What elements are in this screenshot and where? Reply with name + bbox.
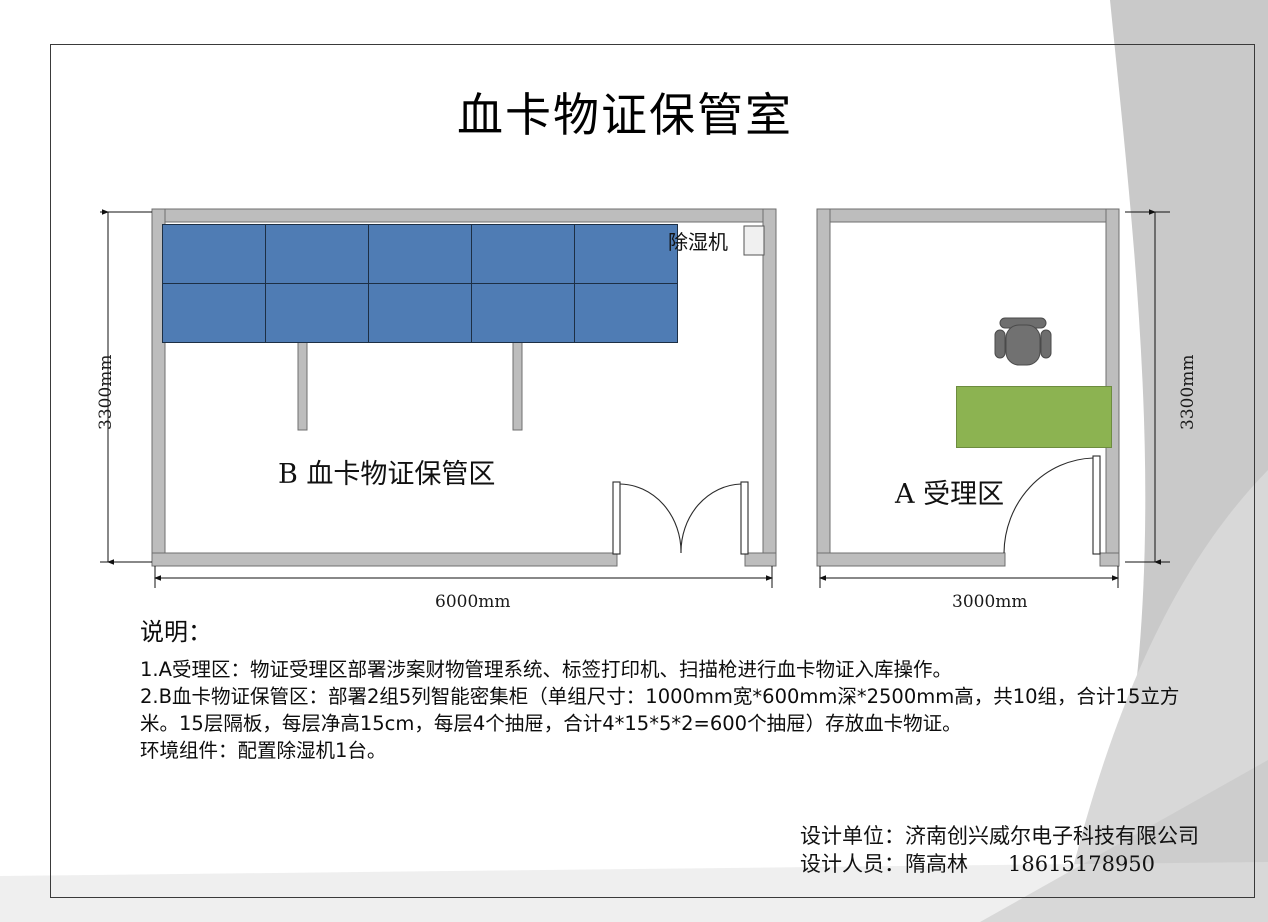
cabinet-cell <box>265 283 369 343</box>
dehumidifier-label: 除湿机 <box>668 226 728 255</box>
cabinet-cell <box>471 224 575 284</box>
cabinet-cell <box>265 224 369 284</box>
cabinet-cell <box>574 224 678 284</box>
cabinet-cell <box>574 283 678 343</box>
footer-designer: 设计人员：隋高林 18615178950 <box>800 850 1202 878</box>
room-b-height-dimension: 3300mm <box>96 354 116 430</box>
dense-cabinet-array <box>162 224 678 342</box>
footer-design-unit: 设计单位：济南创兴威尔电子科技有限公司 <box>800 822 1202 850</box>
room-b-label: B 血卡物证保管区 <box>278 452 495 491</box>
note-line-2: 2.B血卡物证保管区：部署2组5列智能密集柜（单组尺寸：1000mm宽*600m… <box>140 683 1190 737</box>
reception-desk <box>956 386 1112 448</box>
page-title: 血卡物证保管室 <box>50 86 1200 144</box>
room-a-width-dimension: 3000mm <box>952 592 1028 612</box>
cabinet-cell <box>368 224 472 284</box>
room-a-label: A 受理区 <box>895 472 1004 511</box>
room-a-height-dimension: 3300mm <box>1178 354 1198 430</box>
cabinet-cell <box>471 283 575 343</box>
slide-canvas: 血卡物证保管室 <box>0 0 1268 922</box>
slide-frame <box>50 44 1255 898</box>
cabinet-cell <box>368 283 472 343</box>
room-b-width-dimension: 6000mm <box>435 592 511 612</box>
cabinet-cell <box>162 224 266 284</box>
cabinet-cell <box>162 283 266 343</box>
footer-block: 设计单位：济南创兴威尔电子科技有限公司 设计人员：隋高林 18615178950 <box>800 822 1202 878</box>
note-line-3: 环境组件：配置除湿机1台。 <box>140 737 1190 764</box>
notes-body: 1.A受理区：物证受理区部署涉案财物管理系统、标签打印机、扫描枪进行血卡物证入库… <box>140 656 1190 764</box>
note-line-1: 1.A受理区：物证受理区部署涉案财物管理系统、标签打印机、扫描枪进行血卡物证入库… <box>140 656 1190 683</box>
notes-heading: 说明： <box>140 612 212 647</box>
